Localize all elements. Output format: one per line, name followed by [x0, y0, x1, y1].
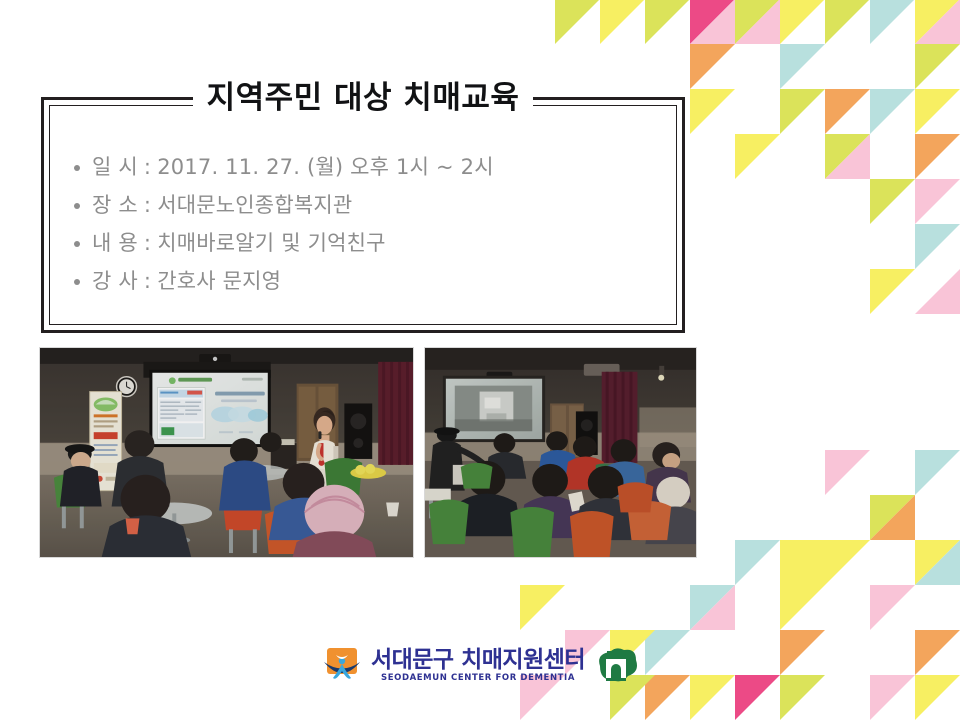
list-item-value: 간호사 문지영	[157, 269, 281, 293]
list-item-value: 서대문노인종합복지관	[157, 193, 352, 217]
decor-triangle	[520, 585, 565, 630]
decor-triangle	[690, 89, 735, 134]
decor-triangle	[915, 224, 960, 269]
decor-triangle	[690, 585, 735, 630]
decor-triangle	[780, 0, 825, 44]
logo-text-block: 서대문구 치매지원센터 SEODAEMUN CENTER FOR DEMENTI…	[371, 648, 585, 684]
list-item-separator: :	[138, 186, 157, 224]
decor-triangle	[915, 269, 960, 314]
decor-triangle	[690, 44, 735, 89]
decor-triangle	[780, 540, 870, 630]
decor-triangle	[915, 540, 960, 585]
page-title: 지역주민 대상 치매교육	[193, 76, 534, 120]
logo-title: 서대문구 치매지원센터	[371, 648, 585, 673]
decor-triangle	[735, 0, 780, 44]
decor-triangle	[825, 89, 870, 134]
list-item-label: 일 시	[92, 148, 138, 186]
decor-triangle	[870, 495, 915, 540]
decor-triangle	[735, 540, 780, 585]
decor-triangle	[870, 89, 915, 134]
photo-lecture-audience	[424, 347, 697, 558]
decor-triangle	[870, 0, 915, 44]
decor-triangle	[825, 134, 870, 179]
decor-triangle	[870, 269, 915, 314]
decor-triangle	[825, 134, 870, 179]
decor-triangle	[915, 89, 960, 134]
info-list: 일 시:2017. 11. 27. (월) 오후 1시 ~ 2시 장 소:서대문…	[70, 148, 670, 300]
list-item-separator: :	[138, 262, 157, 300]
page-title-wrapper: 지역주민 대상 치매교육	[41, 76, 685, 120]
photo-lecture-presenter	[39, 347, 414, 558]
list-item-label: 강 사	[92, 262, 138, 300]
logo-subtitle: SEODAEMUN CENTER FOR DEMENTIA	[371, 673, 585, 684]
list-item-label: 내 용	[92, 224, 138, 262]
person-figure-logo-icon	[322, 646, 362, 686]
list-item: 강 사:간호사 문지영	[70, 262, 670, 300]
decor-triangle	[915, 0, 960, 44]
decor-triangle	[735, 134, 780, 179]
decor-triangle	[915, 179, 960, 224]
list-item: 내 용:치매바로알기 및 기억친구	[70, 224, 670, 262]
list-item-separator: :	[138, 148, 157, 186]
decor-triangle	[780, 44, 825, 89]
decor-triangle	[645, 0, 690, 44]
decor-triangle	[825, 450, 870, 495]
list-item-value: 2017. 11. 27. (월) 오후 1시 ~ 2시	[157, 155, 494, 179]
organization-logo: 서대문구 치매지원센터 SEODAEMUN CENTER FOR DEMENTI…	[0, 640, 960, 692]
decor-triangle	[915, 450, 960, 495]
decor-triangle	[915, 0, 960, 44]
decor-triangle	[915, 540, 960, 585]
decor-triangle	[555, 0, 600, 44]
decor-triangle	[735, 0, 780, 44]
poster-slide: 지역주민 대상 치매교육 일 시:2017. 11. 27. (월) 오후 1시…	[0, 0, 960, 720]
independence-gate-emblem-icon	[594, 646, 638, 686]
decor-triangle	[870, 495, 915, 540]
list-item: 장 소:서대문노인종합복지관	[70, 186, 670, 224]
list-item-label: 장 소	[92, 186, 138, 224]
decor-triangle	[690, 0, 735, 44]
decor-triangle	[600, 0, 645, 44]
decor-triangle	[825, 0, 870, 44]
list-item-value: 치매바로알기 및 기억친구	[157, 231, 385, 255]
list-item: 일 시:2017. 11. 27. (월) 오후 1시 ~ 2시	[70, 148, 670, 186]
decor-triangle	[870, 585, 915, 630]
decor-triangle	[690, 585, 735, 630]
decor-triangle	[780, 89, 825, 134]
decor-triangle	[915, 134, 960, 179]
list-item-separator: :	[138, 224, 157, 262]
decor-triangle	[915, 44, 960, 89]
decor-triangle	[870, 179, 915, 224]
decor-triangle	[690, 0, 735, 44]
